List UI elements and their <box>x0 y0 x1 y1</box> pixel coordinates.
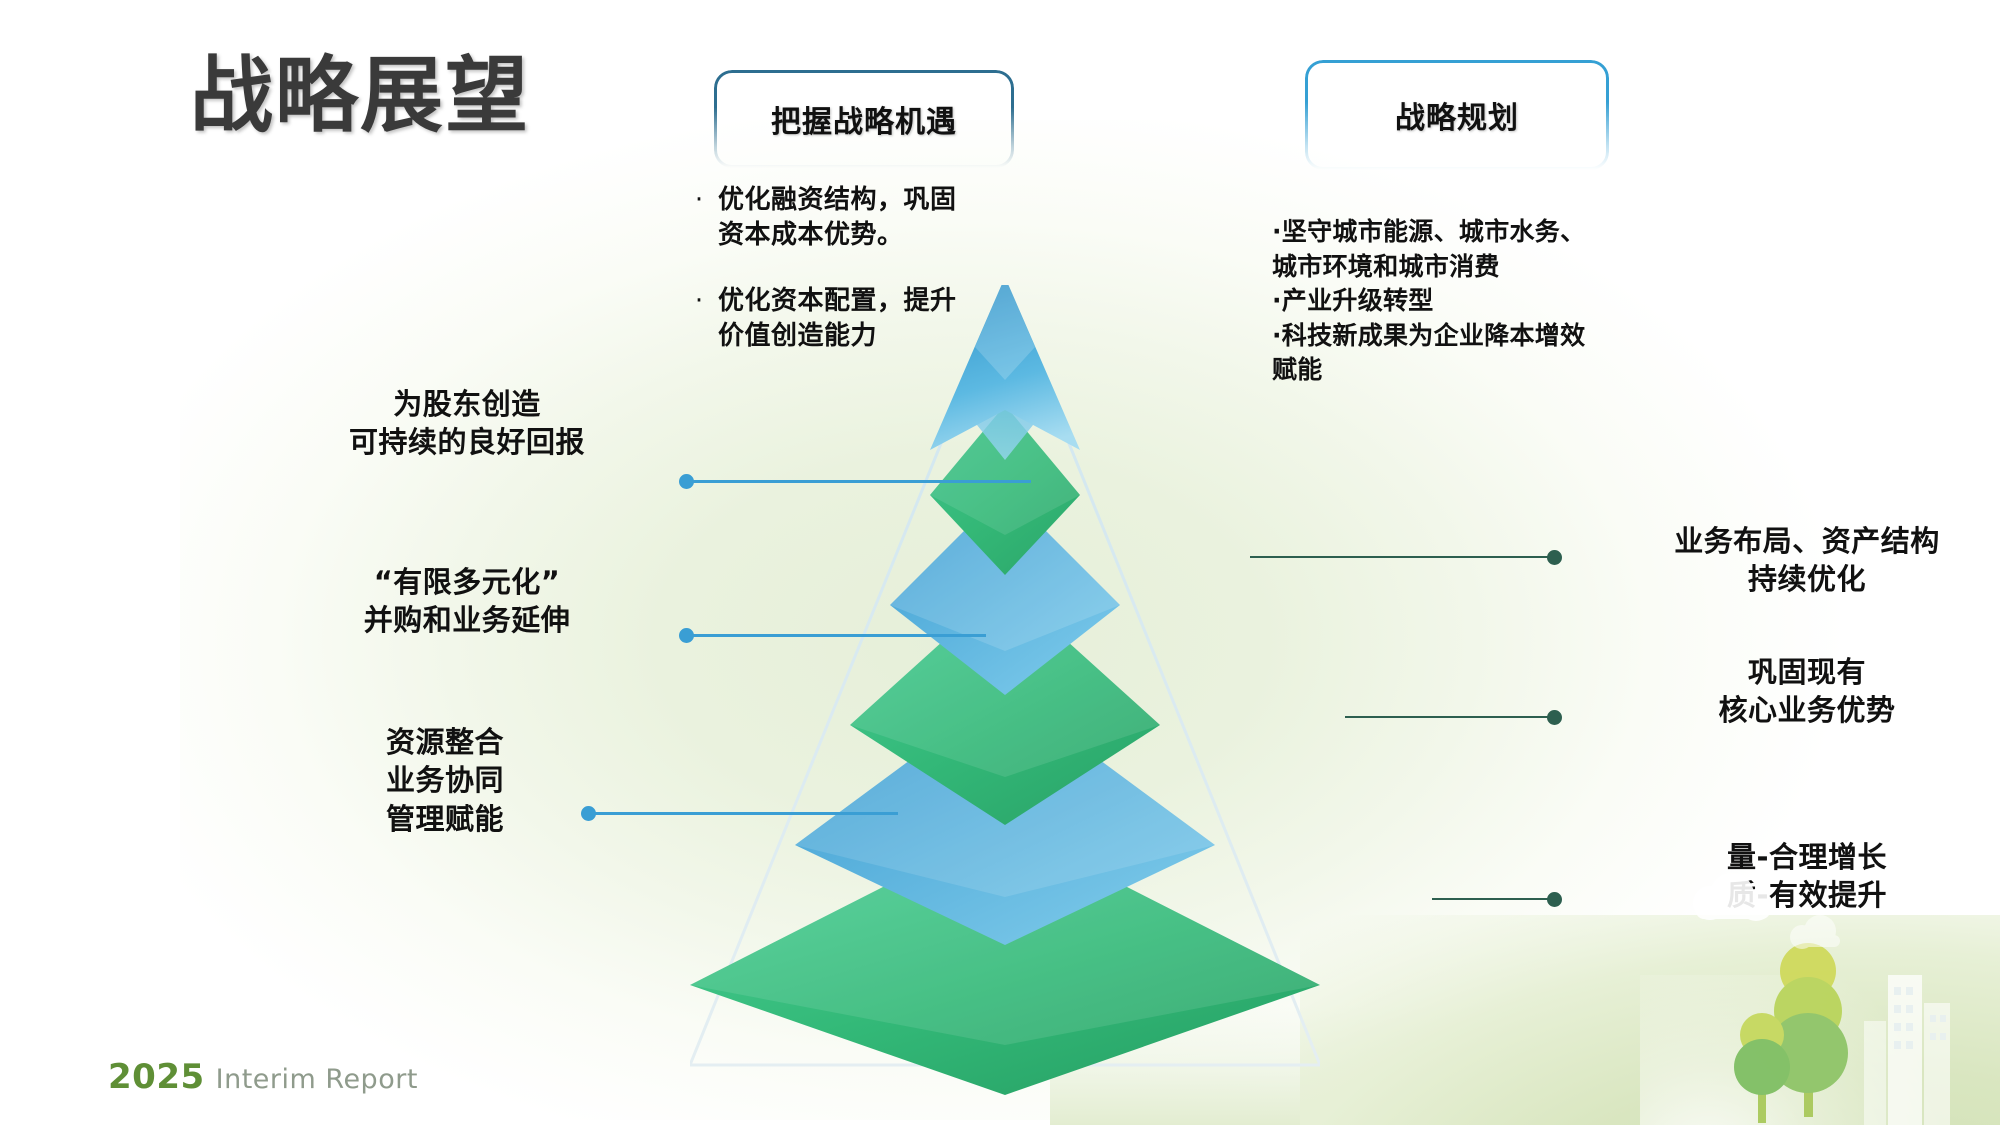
label-left-limited-diversification: “有限多元化” 并购和业务延伸 <box>272 563 662 640</box>
label-line: 巩固现有 <box>1612 653 2000 691</box>
label-line: 持续优化 <box>1612 560 2000 598</box>
pyramid-diagram <box>690 285 1320 1095</box>
bullet-line: 城市环境和城市消费 <box>1272 250 1652 285</box>
label-line: 资源整合 <box>300 723 590 761</box>
connector-line <box>686 634 986 637</box>
connector-dot <box>679 474 694 489</box>
label-line: 业务布局、资产结构 <box>1612 522 2000 560</box>
label-line: 为股东创造 <box>272 385 662 423</box>
pyramid-outline <box>690 285 1320 1095</box>
label-line: “有限多元化” <box>272 563 662 601</box>
scenery-illustration <box>1652 825 1982 1125</box>
callout-box-opportunities: 把握战略机遇 <box>714 70 1014 168</box>
label-right-core-business: 巩固现有 核心业务优势 <box>1612 653 2000 730</box>
callout-title-strategy-plan: 战略规划 <box>1305 93 1609 137</box>
connector-line <box>686 480 1031 483</box>
footer: 2025 Interim Report <box>108 1057 418 1097</box>
label-line: 核心业务优势 <box>1612 691 2000 729</box>
bullet-line: 资本成本优势。 <box>718 218 957 253</box>
cloud-icon <box>1790 915 1840 949</box>
bullet-list-strategy-plan: ·坚守城市能源、城市水务、 城市环境和城市消费 ·产业升级转型 ·科技新成果为企… <box>1272 215 1652 388</box>
label-line: 业务协同 <box>300 761 590 799</box>
connector-dot <box>1547 550 1562 565</box>
bullet-dot-icon: · <box>680 183 718 254</box>
callout-title-opportunities: 把握战略机遇 <box>714 97 1014 141</box>
building-icon <box>1888 975 1922 1125</box>
connector-left-2 <box>686 634 986 637</box>
connector-right-2 <box>1345 716 1555 719</box>
building-icon <box>1864 1021 1886 1125</box>
connector-left-3 <box>588 812 898 815</box>
tree-icon <box>1734 1013 1790 1123</box>
connector-right-1 <box>1250 556 1555 559</box>
connector-left-1 <box>686 480 1031 483</box>
connector-dot <box>679 628 694 643</box>
bullet-line: 赋能 <box>1272 353 1652 388</box>
bullet-line: ·坚守城市能源、城市水务、 <box>1272 215 1652 250</box>
connector-line <box>1250 556 1555 558</box>
connector-dot <box>1547 710 1562 725</box>
bullet-line: ·产业升级转型 <box>1272 284 1652 319</box>
label-left-shareholder-return: 为股东创造 可持续的良好回报 <box>272 385 662 462</box>
bullet-line: ·科技新成果为企业降本增效 <box>1272 319 1652 354</box>
cloud-icon <box>1693 873 1772 921</box>
connector-dot <box>1547 892 1562 907</box>
bullet-line: 优化融资结构，巩固 <box>718 183 957 218</box>
list-item: · 优化融资结构，巩固 资本成本优势。 <box>680 183 1030 254</box>
connector-line <box>588 812 898 815</box>
bullet-text: 优化融资结构，巩固 资本成本优势。 <box>718 183 957 254</box>
footer-label: Interim Report <box>216 1064 418 1095</box>
label-line: 可持续的良好回报 <box>272 423 662 461</box>
callout-box-strategy-plan: 战略规划 <box>1305 60 1609 170</box>
label-line: 并购和业务延伸 <box>272 601 662 639</box>
page-title: 战略展望 <box>190 52 530 139</box>
slide-canvas: 战略展望 把握战略机遇 · 优化融资结构，巩固 资本成本优势。 · 优化资本配置… <box>0 0 2000 1125</box>
label-line: 管理赋能 <box>300 800 590 838</box>
building-icon <box>1924 1003 1950 1125</box>
footer-year: 2025 <box>108 1057 205 1097</box>
connector-line <box>1432 898 1555 900</box>
label-right-business-layout: 业务布局、资产结构 持续优化 <box>1612 522 2000 599</box>
label-left-resource-integration: 资源整合 业务协同 管理赋能 <box>300 723 590 838</box>
connector-line <box>1345 716 1555 718</box>
connector-right-3 <box>1432 898 1555 901</box>
